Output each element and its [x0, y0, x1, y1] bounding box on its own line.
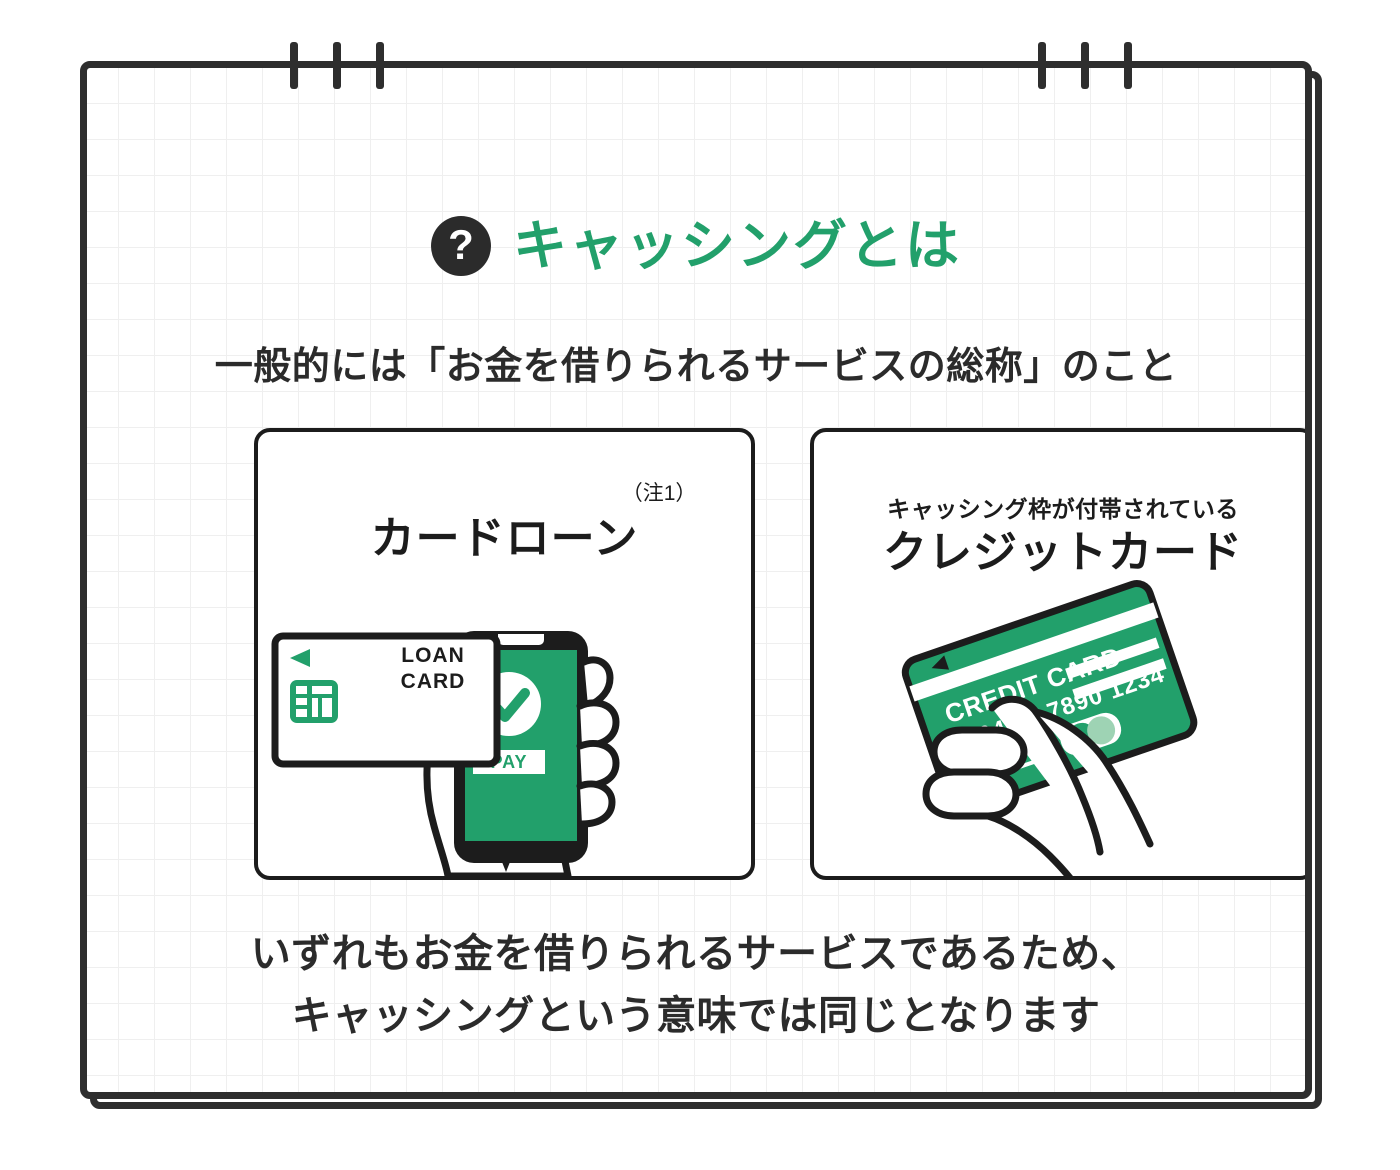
panel-credit-card-title: クレジットカード [883, 528, 1243, 579]
header: ? キャッシングとは [87, 216, 1305, 276]
card-chip-icon [290, 680, 338, 723]
panel-credit-card-heading: キャッシング枠が付帯されている クレジットカード [814, 490, 1312, 579]
illustration-hand-phone-loan-card: PAY [258, 576, 751, 876]
svg-text:CARD: CARD [401, 670, 466, 693]
infographic-notepad: ? キャッシングとは 一般的には「お金を借りられるサービスの総称」のこと カード… [0, 0, 1400, 1170]
subtitle: 一般的には「お金を借りられるサービスの総称」のこと [87, 335, 1305, 390]
conclusion-text: いずれもお金を借りられるサービスであるため、 キャッシングという意味では同じとな… [87, 923, 1305, 1047]
panel-group: カードローン （注1） [254, 428, 1312, 880]
question-mark-glyph: ? [448, 224, 474, 266]
panel-credit-card-subtitle: キャッシング枠が付帯されている [814, 490, 1312, 524]
loan-card: LOAN CARD [275, 636, 497, 764]
notepad-paper: ? キャッシングとは 一般的には「お金を借りられるサービスの総称」のこと カード… [80, 61, 1312, 1099]
conclusion-line-1: いずれもお金を借りられるサービスであるため、 [87, 923, 1305, 985]
panel-card-loan-title: カードローン （注1） [371, 514, 639, 565]
footnote-marker: （注1） [622, 482, 697, 506]
panel-card-loan-heading: カードローン （注1） [258, 514, 751, 565]
panel-credit-card: キャッシング枠が付帯されている クレジットカード [810, 428, 1312, 880]
question-mark-icon: ? [431, 216, 491, 276]
illustration-hand-credit-card: CREDIT CARD 1234 56 7890 1234 [814, 576, 1312, 876]
conclusion-line-2: キャッシングという意味では同じとなります [87, 985, 1305, 1047]
page-title: キャッシングとは [513, 219, 961, 273]
svg-text:LOAN: LOAN [401, 644, 465, 667]
panel-card-loan: カードローン （注1） [254, 428, 755, 880]
